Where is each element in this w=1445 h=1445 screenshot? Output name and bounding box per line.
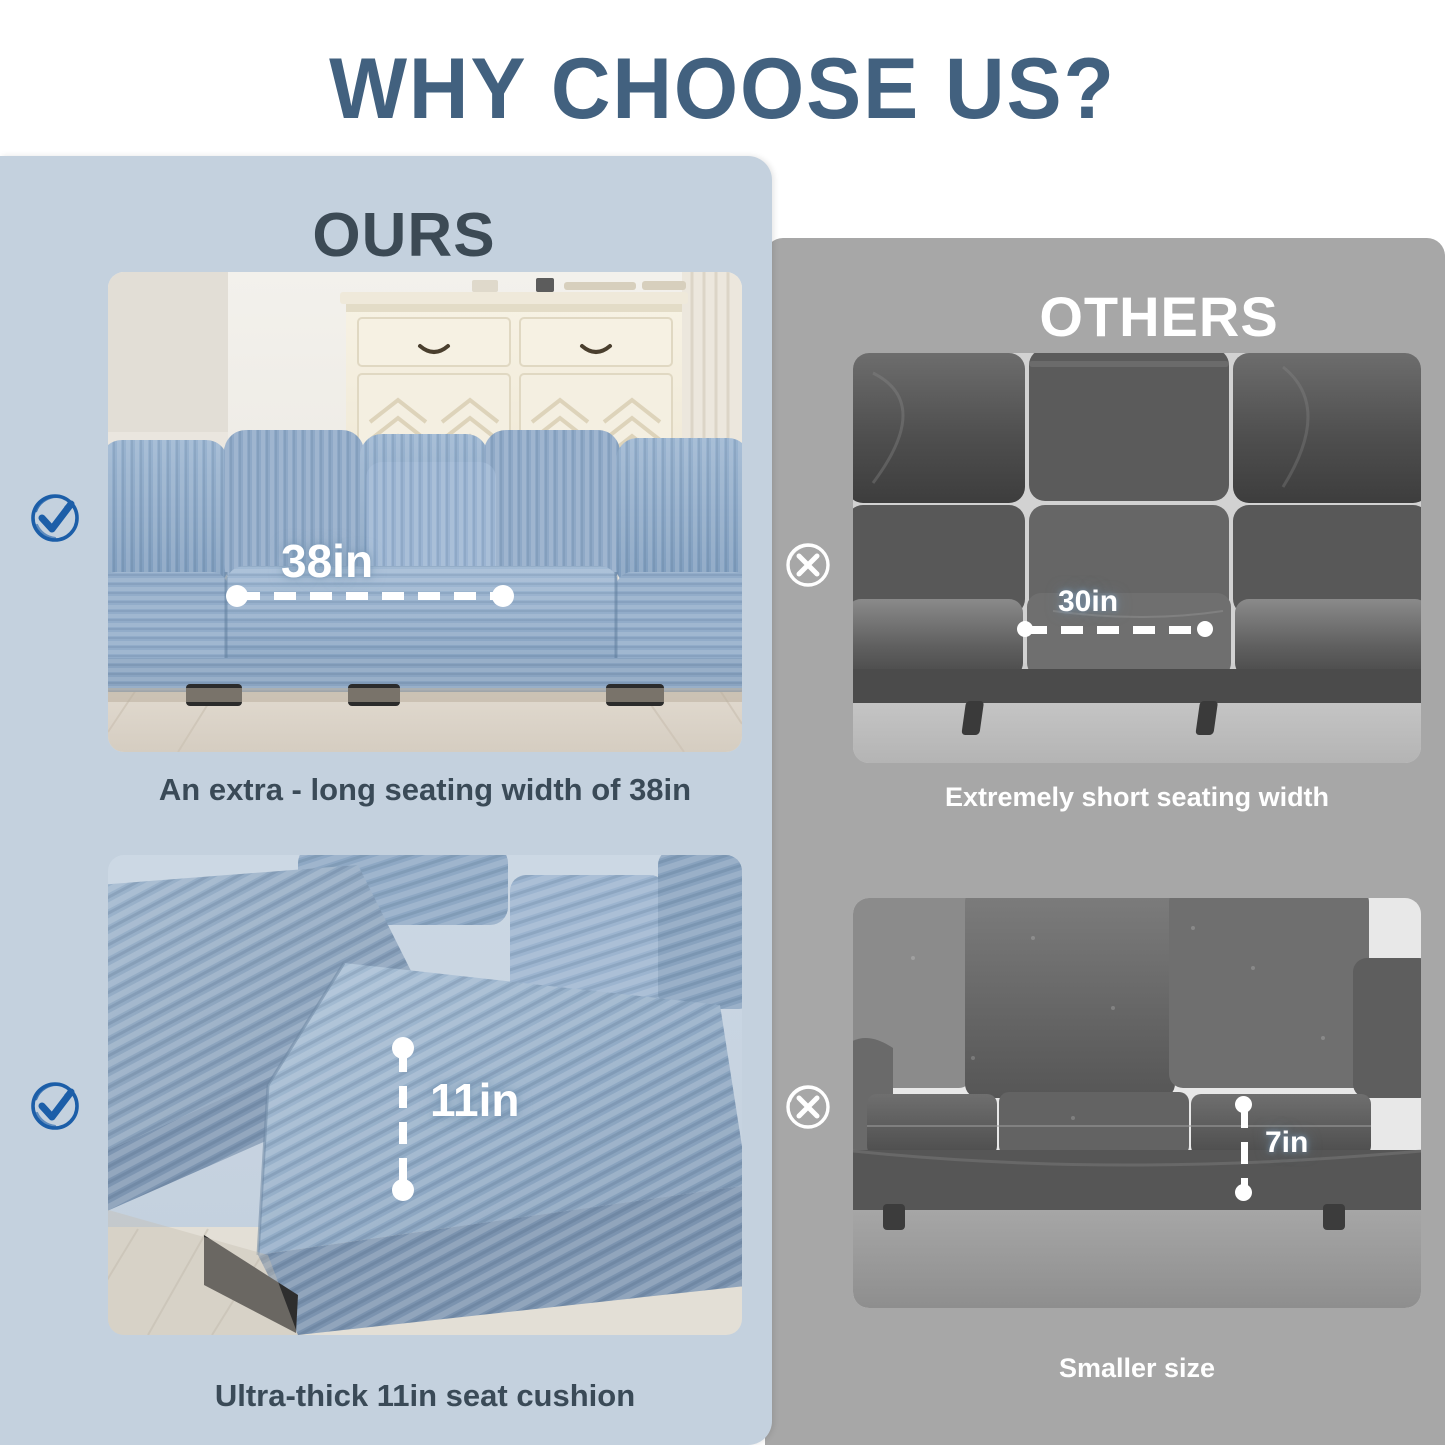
check-circle-icon [24, 487, 86, 549]
photo-others-cushion-thickness [853, 898, 1421, 1308]
caption-ours-seating-width: An extra - long seating width of 38in [108, 772, 742, 808]
page-title: WHY CHOOSE US? [29, 40, 1416, 139]
panel-others-heading: OTHERS [819, 284, 1445, 349]
caption-ours-cushion-thickness: Ultra-thick 11in seat cushion [108, 1378, 742, 1414]
panel-ours-heading: OURS [18, 200, 790, 271]
caption-others-smaller-size: Smaller size [853, 1353, 1421, 1384]
photo-others-seating-width [853, 353, 1421, 763]
infographic-canvas: WHY CHOOSE US? OTHERS [0, 0, 1445, 1445]
x-circle-icon [780, 537, 836, 593]
x-circle-icon [780, 1079, 836, 1135]
photo-ours-seating-width [108, 272, 742, 752]
check-circle-icon [24, 1075, 86, 1137]
caption-others-seating-width: Extremely short seating width [853, 782, 1421, 813]
photo-ours-cushion-thickness [108, 855, 742, 1335]
